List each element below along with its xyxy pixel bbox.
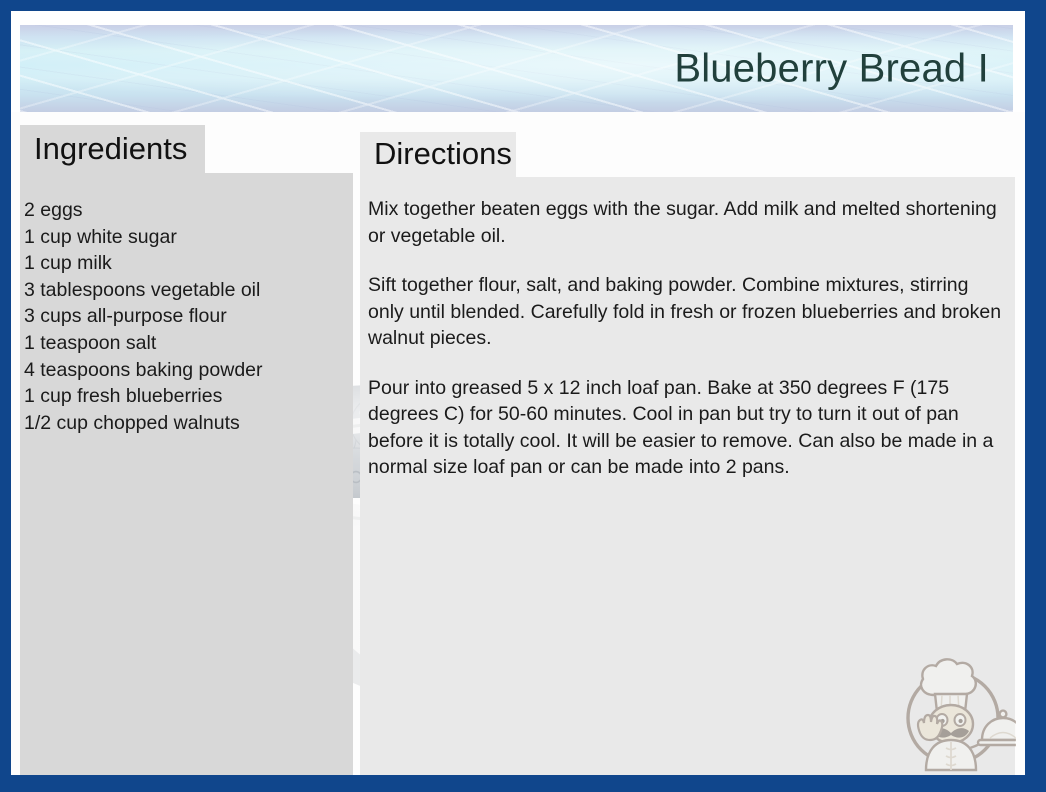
card-border-right bbox=[1025, 0, 1046, 792]
list-item: 3 cups all-purpose flour bbox=[24, 303, 349, 330]
card-border-top bbox=[0, 0, 1046, 11]
title-banner: Blueberry Bread I bbox=[20, 25, 1013, 112]
list-item: 1/2 cup chopped walnuts bbox=[24, 410, 349, 437]
chef-logo-artwork bbox=[890, 648, 1016, 774]
list-item: 1 teaspoon salt bbox=[24, 330, 349, 357]
card-border-left bbox=[0, 0, 11, 792]
recipe-card: Blueberry Bread I Ingredients 2 eggs 1 c… bbox=[0, 0, 1046, 792]
directions-text: Mix together beaten eggs with the sugar.… bbox=[368, 196, 1008, 481]
direction-paragraph: Mix together beaten eggs with the sugar.… bbox=[368, 196, 1008, 249]
list-item: 2 eggs bbox=[24, 197, 349, 224]
list-item: 1 cup milk bbox=[24, 250, 349, 277]
chef-with-cloche-logo bbox=[890, 648, 1016, 774]
list-item: 1 cup fresh blueberries bbox=[24, 383, 349, 410]
ingredients-panel: Ingredients 2 eggs 1 cup white sugar 1 c… bbox=[20, 125, 353, 775]
ingredients-heading: Ingredients bbox=[34, 131, 187, 167]
direction-paragraph: Sift together flour, salt, and baking po… bbox=[368, 272, 1008, 352]
list-item: 4 teaspoons baking powder bbox=[24, 357, 349, 384]
list-item: 3 tablespoons vegetable oil bbox=[24, 277, 349, 304]
page-title: Blueberry Bread I bbox=[674, 46, 989, 91]
list-item: 1 cup white sugar bbox=[24, 224, 349, 251]
directions-heading: Directions bbox=[374, 136, 512, 172]
ingredients-list: 2 eggs 1 cup white sugar 1 cup milk 3 ta… bbox=[24, 197, 349, 436]
card-border-bottom bbox=[0, 775, 1046, 792]
direction-paragraph: Pour into greased 5 x 12 inch loaf pan. … bbox=[368, 375, 1008, 481]
